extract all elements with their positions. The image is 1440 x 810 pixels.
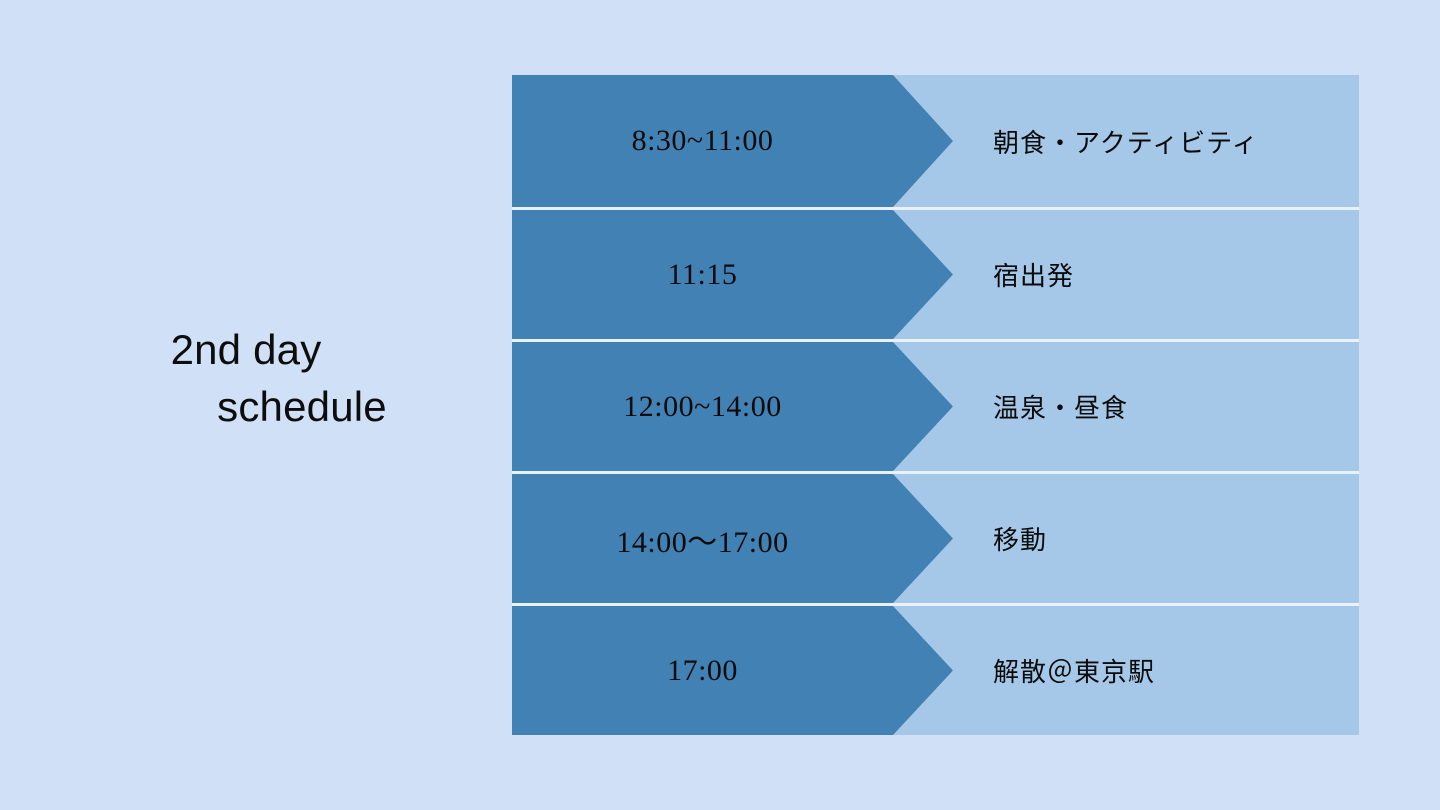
row-label: 移動 (993, 474, 1343, 603)
schedule-chevron-list: 8:30~11:00 朝食・アクティビティ 11:15 宿出発 12:00~14… (512, 75, 1359, 735)
row-label: 温泉・昼食 (993, 342, 1343, 471)
row-time: 17:00 (512, 606, 893, 735)
schedule-row: 8:30~11:00 朝食・アクティビティ (512, 75, 1359, 207)
schedule-row: 12:00~14:00 温泉・昼食 (512, 339, 1359, 471)
row-time: 12:00~14:00 (512, 342, 893, 471)
schedule-row: 14:00〜17:00 移動 (512, 471, 1359, 603)
schedule-row: 11:15 宿出発 (512, 207, 1359, 339)
row-label: 宿出発 (993, 210, 1343, 339)
slide-canvas: 2nd day schedule 8:30~11:00 朝食・アクティビティ 1… (0, 0, 1440, 810)
row-time: 8:30~11:00 (512, 75, 893, 207)
page-title-line-2: schedule (60, 379, 480, 436)
schedule-row: 17:00 解散＠東京駅 (512, 603, 1359, 735)
page-title-line-1: 2nd day (60, 322, 480, 379)
row-time: 14:00〜17:00 (512, 474, 893, 603)
row-time: 11:15 (512, 210, 893, 339)
page-title: 2nd day schedule (60, 322, 480, 435)
row-label: 朝食・アクティビティ (993, 75, 1343, 207)
row-label: 解散＠東京駅 (993, 606, 1343, 735)
